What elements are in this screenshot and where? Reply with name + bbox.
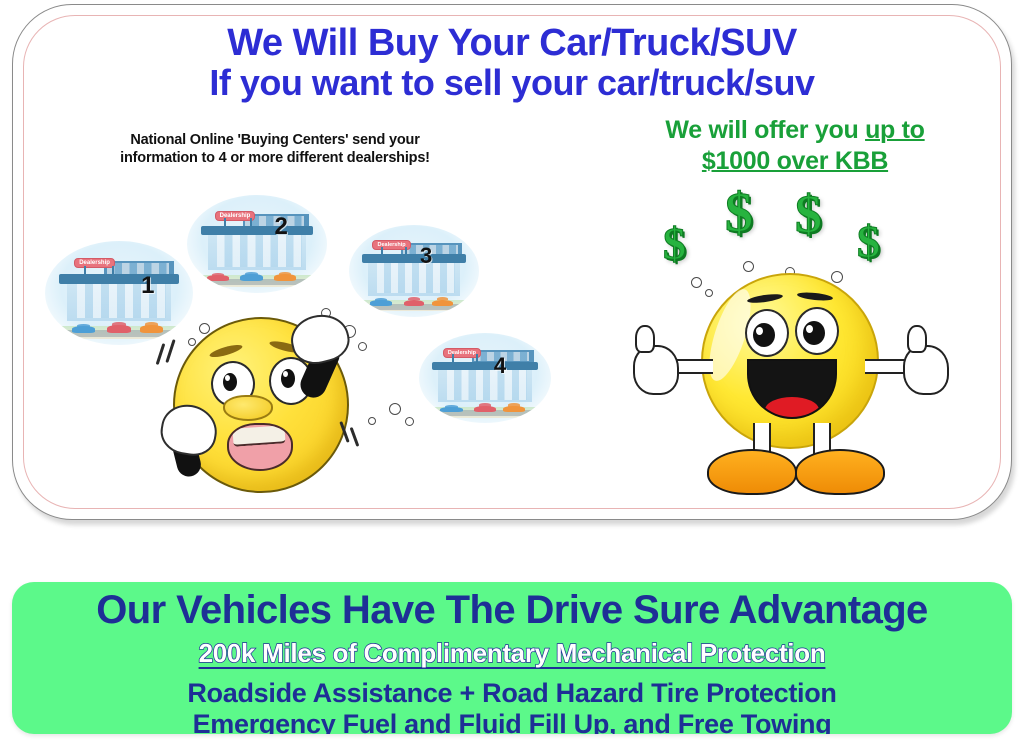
headline-line-2: If you want to sell your car/truck/suv [13,64,1011,103]
thought-dot [389,403,401,415]
car-orange [432,300,453,306]
right-shoe [795,449,885,495]
dealership-bubble-4: Dealership 4 [419,333,551,423]
bubble-number-1: 1 [141,272,154,300]
car-blue [370,300,392,306]
dealership-bubble-3: Dealership 3 [349,225,479,317]
bubble-number-3: 3 [420,243,432,269]
drive-sure-advantage-banner: Our Vehicles Have The Drive Sure Advanta… [12,582,1012,734]
right-caption-up-to: up to [865,116,925,144]
dealership-sign: Dealership [74,258,115,268]
car-red [474,406,495,412]
thought-dot [368,417,376,425]
banner-subheadline: 200k Miles of Complimentary Mechanical P… [12,638,1012,669]
right-caption-amount: $1000 over KBB [702,147,888,175]
page-title: We Will Buy Your Car/Truck/SUV If you wa… [13,23,1011,103]
left-pupil [753,323,775,347]
right-thumb-up-icon [907,325,927,353]
left-caption-line-1: National Online 'Buying Centers' send yo… [130,132,419,148]
bubble-number-2: 2 [274,213,287,241]
right-caption-line-1-pre: We will offer you [665,116,865,144]
banner-benefit-line-2: Emergency Fuel and Fluid Fill Up, and Fr… [12,709,1012,734]
right-pupil-highlight [806,325,813,333]
car-orange [140,325,164,332]
sign-post-left [381,247,383,256]
sparkle-dot [743,261,754,272]
building-roof-bar [432,362,538,370]
building-upper-glass [107,263,169,273]
car-orange [274,274,296,281]
car-red [207,275,229,281]
banner-benefit-line-1: Roadside Assistance + Road Hazard Tire P… [12,678,1012,709]
dollar-sign-icon: $ [795,187,822,241]
car-orange [503,406,524,412]
emoji-teeth [232,425,285,447]
offer-card: We Will Buy Your Car/Truck/SUV If you wa… [12,4,1012,520]
left-pupil-highlight [225,375,230,381]
building-glass [217,235,302,268]
sign-post-right [112,266,114,276]
banner-headline: Our Vehicles Have The Drive Sure Advanta… [12,588,1012,633]
building-roof-bar [59,274,178,283]
sign-post-left [224,218,226,228]
dollar-sign-icon: $ [663,221,686,267]
thought-dot [358,342,367,351]
dealership-building: Dealership [198,213,316,282]
left-thumb-up-icon [635,325,655,353]
car-blue [240,274,262,281]
motion-line [350,427,359,447]
building-glass [377,262,456,293]
dollar-sign-icon: $ [725,185,753,241]
building-roof-bar [201,226,314,235]
building-roof-bar [362,254,467,262]
headline-line-1: We Will Buy Your Car/Truck/SUV [13,23,1011,64]
left-caption-line-2: information to 4 or more different deale… [120,150,430,166]
car-red [107,325,131,332]
sign-post-left [452,354,454,363]
dealership-bubble-2: Dealership 2 [187,195,327,293]
car-blue [72,326,96,332]
right-caption: We will offer you up to $1000 over KBB [601,115,989,176]
right-pupil [803,321,825,345]
car-red [404,300,425,306]
emoji-nose [223,395,273,421]
emoji-mouth [227,423,293,471]
motion-line [165,339,175,363]
car-blue [440,407,462,412]
sign-post-right [250,218,252,228]
right-hand [903,345,949,395]
left-pupil-highlight [756,327,763,335]
right-pupil-highlight [283,371,288,377]
building-glass [447,369,527,399]
dollar-sign-icon: $ [857,219,880,265]
left-caption: National Online 'Buying Centers' send yo… [75,131,475,167]
left-shoe [707,449,797,495]
emoji-tongue [765,397,819,419]
sign-post-right [476,354,478,363]
sign-post-right [405,247,407,256]
sign-post-left [84,266,86,276]
happy-emoji [649,273,929,495]
thought-dot [405,417,414,426]
bubble-number-4: 4 [494,353,506,379]
worried-emoji [165,313,351,495]
motion-line [156,343,165,365]
